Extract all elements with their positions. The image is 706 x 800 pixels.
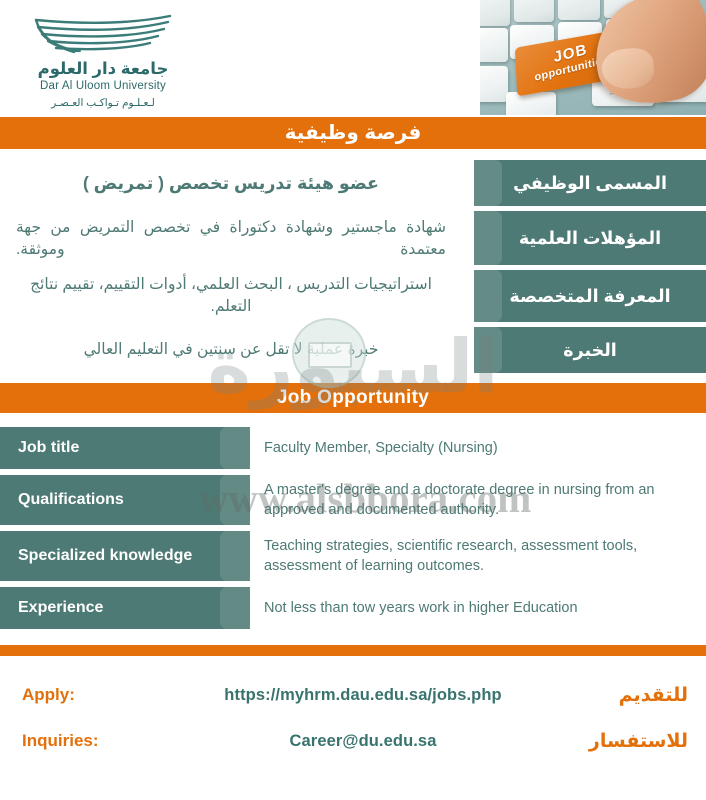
english-title-banner: Job Opportunity [0, 383, 706, 413]
row-accent-block [474, 160, 502, 206]
table-row: المؤهلات العلمية شهادة ماجستير وشهادة دك… [0, 211, 706, 265]
english-label-job-title: Job title [0, 427, 250, 469]
logo-english-name: Dar Al Uloom University [18, 80, 188, 94]
contact-footer: Apply: https://myhrm.dau.edu.sa/jobs.php… [0, 672, 706, 764]
inquiries-label-ar: للاستفسار [576, 730, 706, 753]
english-label-text: Job title [18, 439, 79, 457]
english-value-job-title: Faculty Member, Specialty (Nursing) [250, 427, 706, 469]
arabic-label-job-title: المسمى الوظيفي [474, 160, 706, 206]
arabic-label-specialized-knowledge: المعرفة المتخصصة [474, 270, 706, 322]
apply-label-ar: للتقديم [576, 684, 706, 707]
table-row: المسمى الوظيفي عضو هيئة تدريس تخصص ( تمر… [0, 160, 706, 206]
footer-row-inquiries: Inquiries: Career@du.edu.sa للاستفسار [0, 718, 706, 764]
english-value-specialized-knowledge: Teaching strategies, scientific research… [250, 531, 706, 581]
english-value-qualifications: A master's degree and a doctorate degree… [250, 475, 706, 525]
table-row: Qualifications A master's degree and a d… [0, 475, 706, 525]
apply-url[interactable]: https://myhrm.dau.edu.sa/jobs.php [150, 686, 576, 705]
footer-row-apply: Apply: https://myhrm.dau.edu.sa/jobs.php… [0, 672, 706, 718]
arabic-details-table: المسمى الوظيفي عضو هيئة تدريس تخصص ( تمر… [0, 160, 706, 378]
table-row: المعرفة المتخصصة استراتيجيات التدريس ، ا… [0, 270, 706, 322]
arabic-label-qualifications: المؤهلات العلمية [474, 211, 706, 265]
row-accent-block [474, 211, 502, 265]
apply-label-en: Apply: [0, 685, 150, 705]
english-details-table: Job title Faculty Member, Specialty (Nur… [0, 427, 706, 635]
row-accent-block [474, 327, 502, 373]
logo-arabic-name: جامعة دار العلوم [18, 60, 188, 79]
english-label-text: Specialized knowledge [18, 547, 192, 565]
inquiries-label-en: Inquiries: [0, 731, 150, 751]
arabic-value-qualifications: شهادة ماجستير وشهادة دكتوراة في تخصص الت… [0, 211, 474, 265]
dau-swoosh-icon [28, 14, 178, 58]
page-header: جامعة دار العلوم Dar Al Uloom University… [0, 0, 706, 117]
arabic-value-experience: خبرة عملية لا تقل عن سنتين في التعليم ال… [0, 327, 474, 373]
english-label-qualifications: Qualifications [0, 475, 250, 525]
table-row: Specialized knowledge Teaching strategie… [0, 531, 706, 581]
arabic-label-text: المسمى الوظيفي [513, 173, 667, 194]
english-label-text: Experience [18, 599, 103, 617]
english-value-experience: Not less than tow years work in higher E… [250, 587, 706, 629]
arabic-label-experience: الخبرة [474, 327, 706, 373]
table-row: Job title Faculty Member, Specialty (Nur… [0, 427, 706, 469]
row-accent-block [220, 587, 250, 629]
table-row: Experience Not less than tow years work … [0, 587, 706, 629]
row-accent-block [474, 270, 502, 322]
english-label-specialized-knowledge: Specialized knowledge [0, 531, 250, 581]
arabic-label-text: الخبرة [563, 340, 617, 361]
arabic-label-text: المؤهلات العلمية [519, 228, 661, 249]
arabic-title-banner: فرصة وظيفية [0, 117, 706, 149]
job-opportunities-keyboard-photo: ctrl alt JOB opportunities [480, 0, 706, 115]
english-label-text: Qualifications [18, 491, 124, 509]
row-accent-block [220, 531, 250, 581]
university-logo: جامعة دار العلوم Dar Al Uloom University… [18, 14, 188, 109]
inquiries-email[interactable]: Career@du.edu.sa [150, 732, 576, 751]
english-label-experience: Experience [0, 587, 250, 629]
arabic-value-job-title: عضو هيئة تدريس تخصص ( تمريض ) [0, 160, 474, 206]
orange-divider-bar [0, 645, 706, 656]
row-accent-block [220, 427, 250, 469]
arabic-label-text: المعرفة المتخصصة [509, 286, 670, 307]
table-row: الخبرة خبرة عملية لا تقل عن سنتين في الت… [0, 327, 706, 373]
logo-tagline: لـعـلـوم تـواكـب العـصـر [18, 97, 188, 109]
row-accent-block [220, 475, 250, 525]
arabic-value-specialized-knowledge: استراتيجيات التدريس ، البحث العلمي، أدوا… [0, 270, 474, 322]
